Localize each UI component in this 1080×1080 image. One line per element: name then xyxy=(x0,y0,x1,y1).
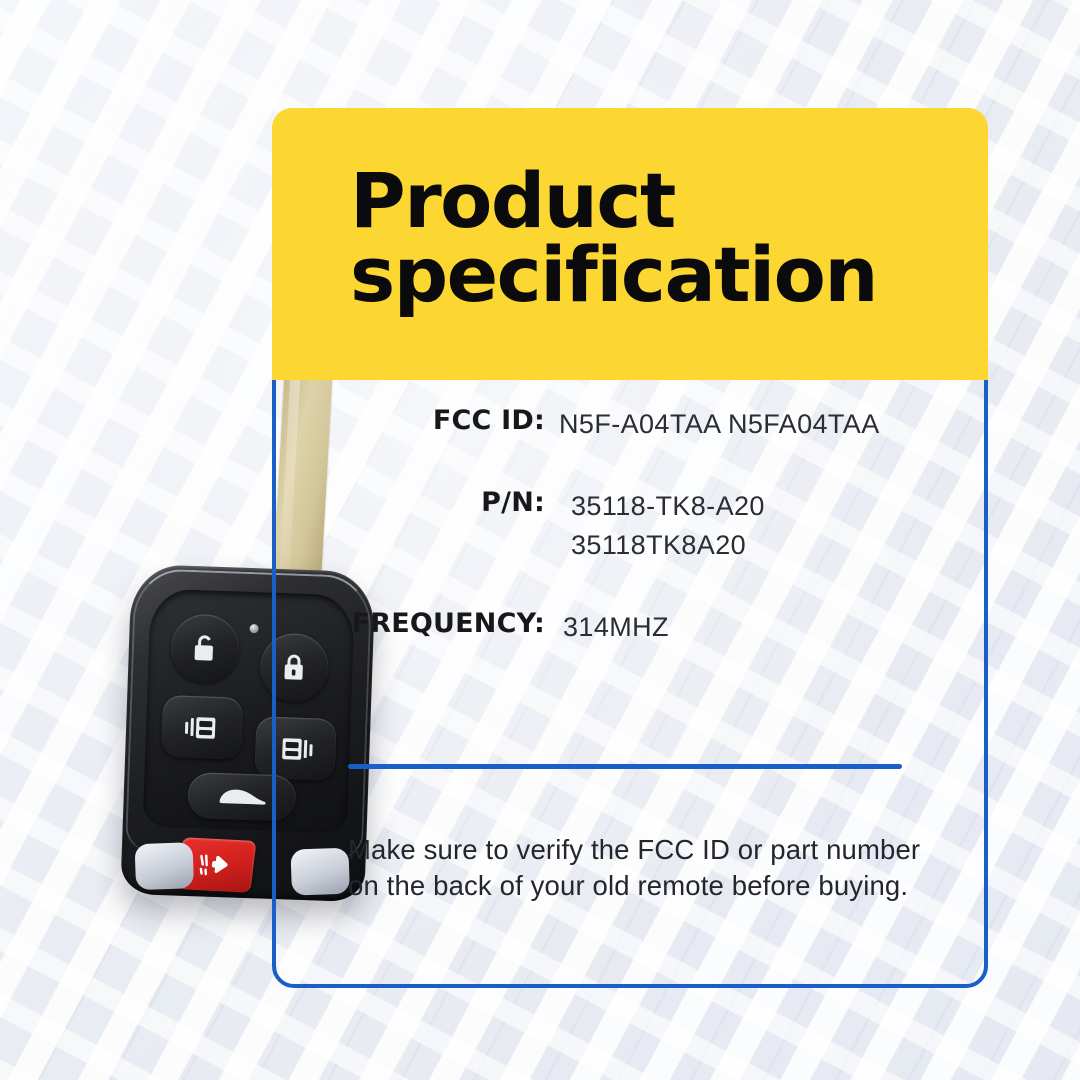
spec-list: FCC ID: N5F-A04TAA N5FA04TAA P/N: 35118-… xyxy=(272,405,988,690)
spec-row-fccid: FCC ID: N5F-A04TAA N5FA04TAA xyxy=(272,405,988,443)
card-header: Productspecification xyxy=(272,108,988,380)
page-title-line-2: specification xyxy=(350,230,877,319)
spec-value-pn: 35118-TK8-A20 35118TK8A20 xyxy=(559,487,988,564)
footer-note-line-1: Make sure to verify the FCC ID or part n… xyxy=(348,832,948,868)
unlock-padlock-icon xyxy=(191,633,218,664)
footer-divider xyxy=(348,764,902,769)
footer-note: Make sure to verify the FCC ID or part n… xyxy=(348,832,948,905)
spec-label-frequency: FREQUENCY: xyxy=(272,608,559,639)
spec-value-fccid-line-1: N5F-A04TAA N5FA04TAA xyxy=(559,405,988,443)
sliding-door-left-icon xyxy=(183,713,222,742)
spec-label-fccid: FCC ID: xyxy=(272,405,559,436)
car-trunk-icon xyxy=(215,785,268,809)
spec-value-pn-line-2: 35118TK8A20 xyxy=(571,526,988,564)
spec-value-fccid: N5F-A04TAA N5FA04TAA xyxy=(559,405,988,443)
spec-row-frequency: FREQUENCY: 314MHZ xyxy=(272,608,988,646)
spec-row-pn: P/N: 35118-TK8-A20 35118TK8A20 xyxy=(272,487,988,564)
led-indicator-icon xyxy=(249,624,258,633)
spec-label-pn: P/N: xyxy=(272,487,559,518)
key-ring-notch-left xyxy=(135,842,195,890)
footer-note-line-2: on the back of your old remote before bu… xyxy=(348,868,948,904)
spec-value-frequency-line-1: 314MHZ xyxy=(563,608,988,646)
unlock-button[interactable] xyxy=(170,613,240,683)
infographic-canvas: Productspecification FCC ID: N5F-A04TAA … xyxy=(0,0,1080,1080)
spec-value-frequency: 314MHZ xyxy=(559,608,988,646)
sliding-door-left-button[interactable] xyxy=(161,695,243,760)
page-title: Productspecification xyxy=(350,164,950,313)
alarm-horn-icon xyxy=(198,851,235,879)
spec-value-pn-line-1: 35118-TK8-A20 xyxy=(571,487,988,525)
